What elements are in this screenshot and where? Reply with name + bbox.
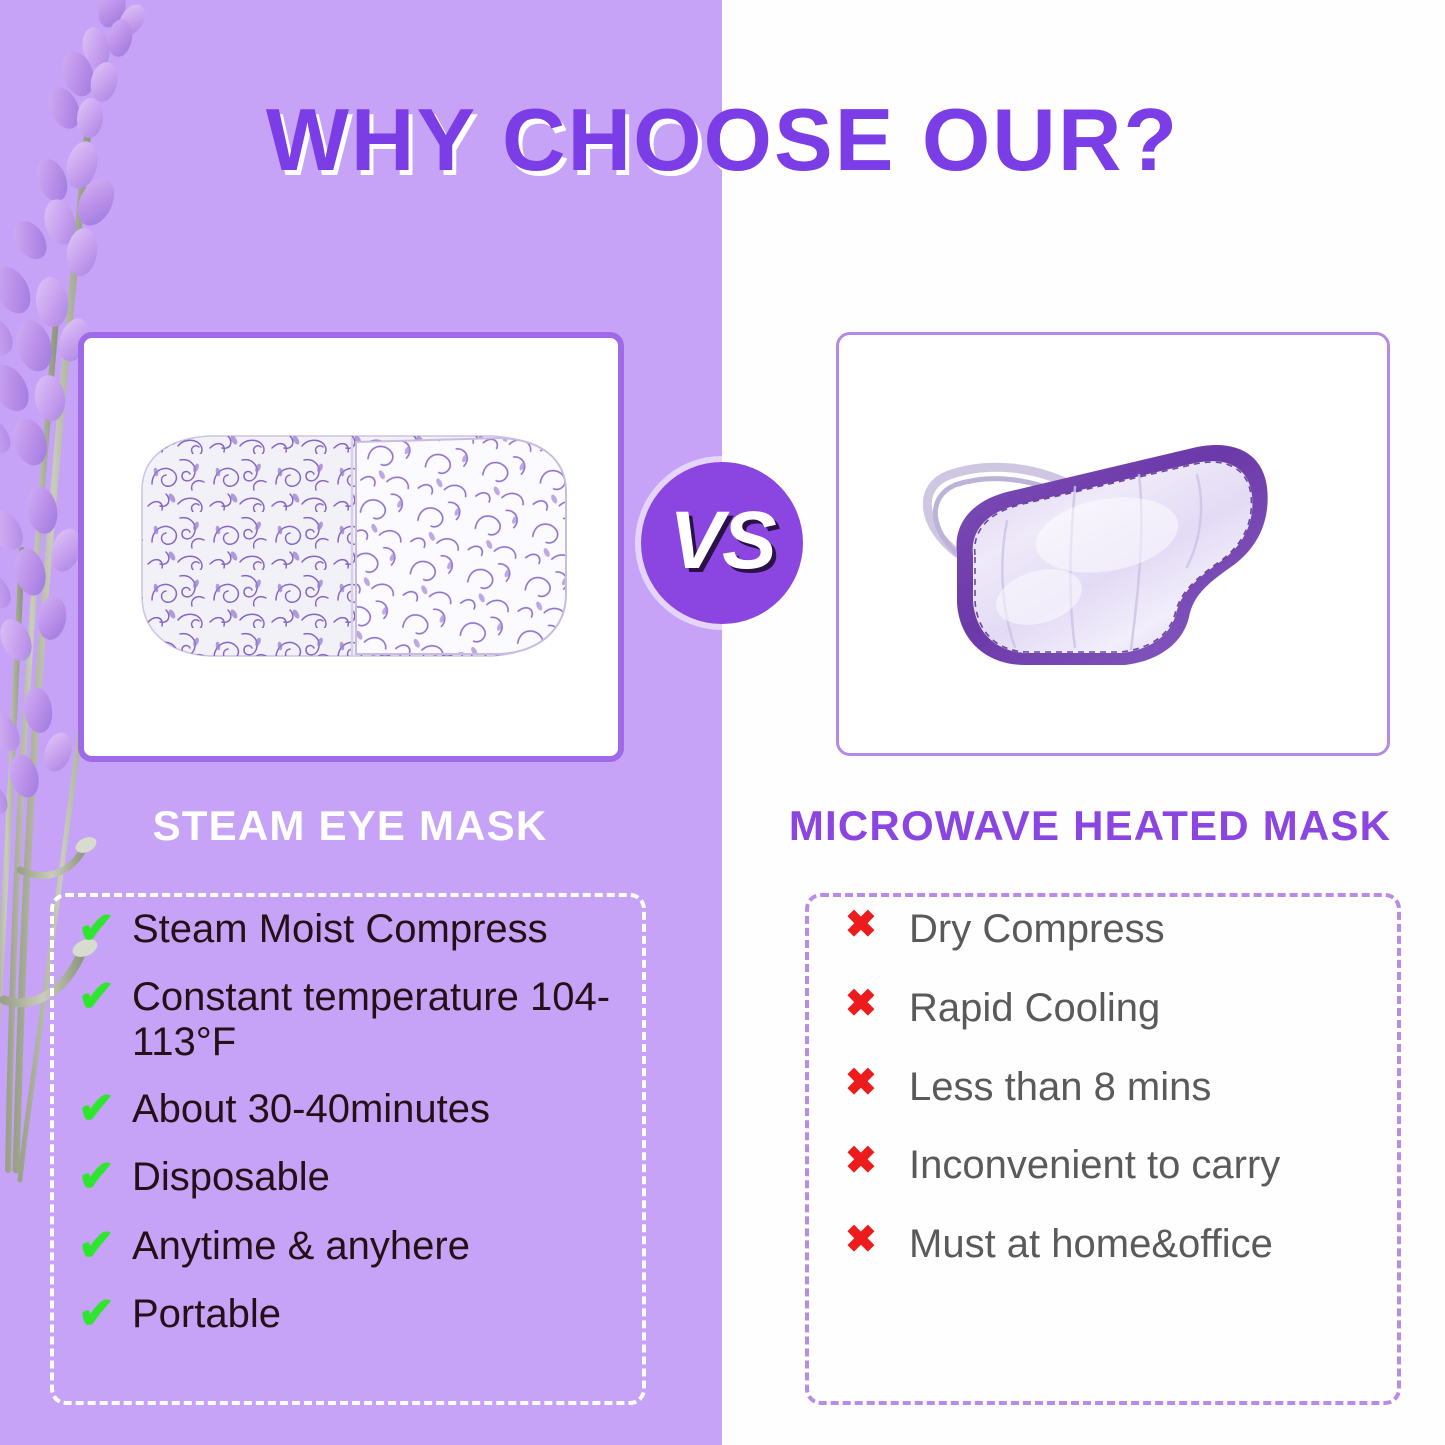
feature-label: Disposable: [132, 1153, 330, 1200]
feature-label: Constant temperature 104-113°F: [132, 973, 658, 1065]
feature-label: Anytime & anyhere: [132, 1222, 470, 1269]
feature-label: Must at home&office: [909, 1220, 1273, 1267]
list-item: ✔ Steam Moist Compress: [78, 905, 658, 953]
red-cross-icon: ✖: [845, 1141, 909, 1183]
red-cross-icon: ✖: [845, 1063, 909, 1105]
red-cross-icon: ✖: [845, 905, 909, 947]
column-heading-left: STEAM EYE MASK: [0, 805, 700, 847]
page-title: WHY CHOOSE OUR?: [0, 96, 1445, 184]
list-item: ✔ Anytime & anyhere: [78, 1222, 658, 1270]
green-check-icon: ✔: [78, 1290, 132, 1338]
feature-label: Inconvenient to carry: [909, 1141, 1280, 1188]
list-item: ✖ Dry Compress: [845, 905, 1405, 952]
list-item: ✖ Inconvenient to carry: [845, 1141, 1405, 1188]
feature-label: Steam Moist Compress: [132, 905, 548, 952]
green-check-icon: ✔: [78, 973, 132, 1021]
list-item: ✖ Rapid Cooling: [845, 984, 1405, 1031]
vs-label: VS: [669, 500, 774, 582]
vs-badge: VS: [641, 462, 803, 624]
feature-list-right: ✖ Dry Compress ✖ Rapid Cooling ✖ Less th…: [845, 905, 1405, 1299]
feature-label: About 30-40minutes: [132, 1085, 490, 1132]
microwave-heated-mask-photo: [839, 335, 1387, 753]
product-image-card-right: [836, 332, 1390, 756]
green-check-icon: ✔: [78, 905, 132, 953]
list-item: ✖ Must at home&office: [845, 1220, 1405, 1267]
feature-label: Rapid Cooling: [909, 984, 1160, 1031]
green-check-icon: ✔: [78, 1222, 132, 1270]
green-check-icon: ✔: [78, 1153, 132, 1201]
feature-label: Dry Compress: [909, 905, 1165, 952]
red-cross-icon: ✖: [845, 1220, 909, 1262]
comparison-infographic: WHY CHOOSE OUR?: [0, 0, 1445, 1445]
feature-label: Less than 8 mins: [909, 1063, 1211, 1110]
steam-eye-mask-photo: [84, 338, 618, 756]
list-item: ✔ Portable: [78, 1290, 658, 1338]
list-item: ✔ About 30-40minutes: [78, 1085, 658, 1133]
column-heading-right: MICROWAVE HEATED MASK: [740, 805, 1440, 847]
feature-list-left: ✔ Steam Moist Compress ✔ Constant temper…: [78, 905, 658, 1359]
feature-label: Portable: [132, 1290, 281, 1337]
red-cross-icon: ✖: [845, 984, 909, 1026]
list-item: ✔ Constant temperature 104-113°F: [78, 973, 658, 1065]
green-check-icon: ✔: [78, 1085, 132, 1133]
list-item: ✖ Less than 8 mins: [845, 1063, 1405, 1110]
list-item: ✔ Disposable: [78, 1153, 658, 1201]
product-image-card-left: [78, 332, 624, 762]
